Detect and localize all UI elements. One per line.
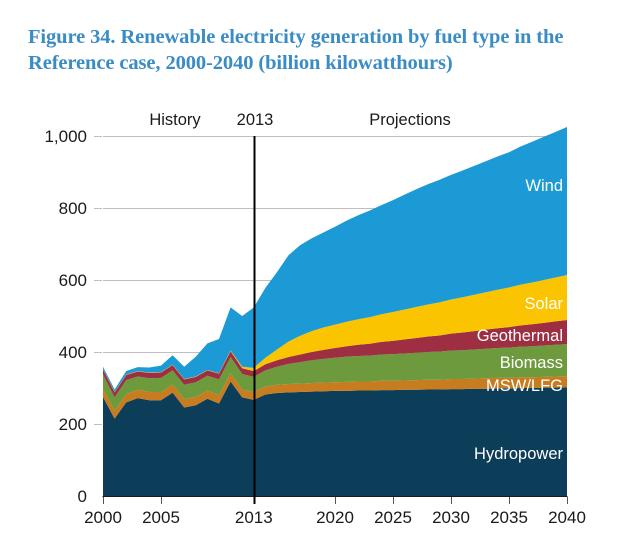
x-axis-tick-label: 2035 [490, 508, 528, 527]
x-axis-tick-label: 2020 [316, 508, 354, 527]
x-axis-tick-label: 2030 [432, 508, 470, 527]
x-axis-tick-labels: 20002005201320202025203020352040 [84, 508, 586, 527]
y-axis-tick-labels: 02004006008001,000 [44, 127, 87, 506]
y-axis-tick-label: 400 [59, 343, 87, 362]
x-axis-tick-label: 2040 [548, 508, 586, 527]
y-axis-tick-label: 600 [59, 271, 87, 290]
series-label-hydropower: Hydropower [474, 445, 563, 463]
period-annotations: History2013Projections [149, 111, 450, 129]
series-label-geothermal: Geothermal [477, 327, 563, 345]
area-series-hydropower [103, 382, 567, 496]
divider-year-label: 2013 [237, 111, 274, 129]
x-axis-tick-label: 2000 [84, 508, 122, 527]
stacked-area-chart: 02004006008001,000 200020052013202020252… [0, 0, 623, 553]
area-series-group [103, 127, 567, 496]
y-axis-tick-label: 200 [59, 415, 87, 434]
projections-label: Projections [369, 111, 451, 129]
figure-container: Figure 34. Renewable electricity generat… [0, 0, 623, 553]
y-axis-tick-label: 1,000 [44, 127, 87, 146]
history-label: History [149, 111, 201, 129]
y-axis-tick-label: 0 [78, 487, 87, 506]
x-axis-tick-label: 2013 [235, 508, 273, 527]
series-label-wind: Wind [525, 177, 563, 195]
x-axis-tick-label: 2005 [142, 508, 180, 527]
series-label-solar: Solar [524, 295, 563, 313]
series-label-msw-lfg: MSW/LFG [486, 377, 563, 395]
series-label-biomass: Biomass [500, 354, 563, 372]
x-axis-tick-label: 2025 [374, 508, 412, 527]
y-axis-tick-label: 800 [59, 199, 87, 218]
